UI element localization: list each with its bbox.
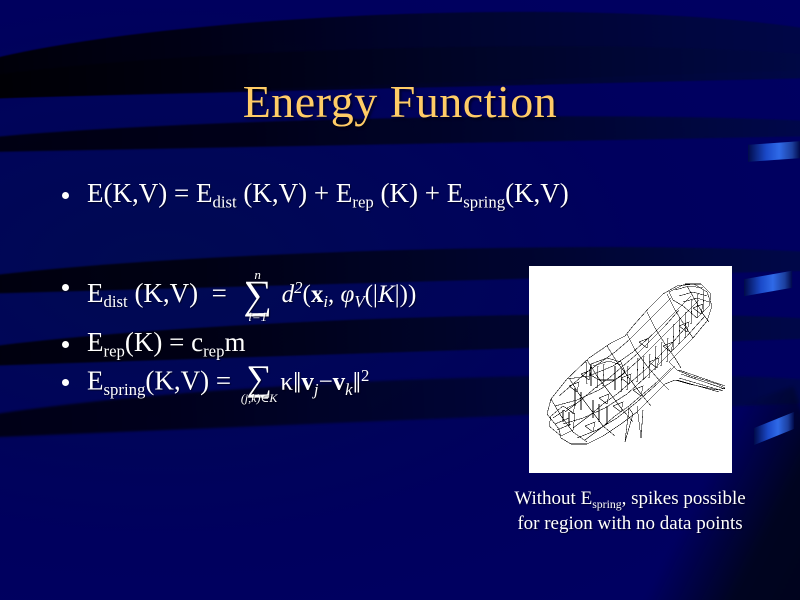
- eq-lhs: E(K,V): [87, 178, 167, 208]
- wireframe-mesh-svg: [529, 266, 732, 473]
- summation-operator: n ∑ i=1: [243, 268, 272, 323]
- eq-term2-base: E: [336, 178, 353, 208]
- eq-term3-sub: spring: [463, 192, 505, 211]
- math-c-subscript: rep: [203, 341, 224, 360]
- eq-lhs-args: (K): [125, 327, 162, 357]
- bullet-dot-icon: [62, 341, 69, 348]
- math-minus: −: [319, 368, 333, 395]
- summation-lower-limit: (j,k)∈K: [241, 392, 278, 404]
- eq-plus2: +: [425, 178, 440, 208]
- caption-line1-pre: Without E: [514, 488, 592, 509]
- bullet-dot-icon: [62, 192, 69, 199]
- math-norm-exponent: 2: [361, 366, 369, 385]
- eq-lhs-base: E: [87, 327, 104, 357]
- eq-equals: =: [212, 278, 227, 308]
- eq-equals: =: [174, 178, 189, 208]
- caption-line2: for region with no data points: [517, 513, 742, 534]
- math-c: c: [191, 327, 203, 357]
- summation-lower-limit: i=1: [248, 310, 267, 323]
- bullet-dot-icon: [62, 284, 69, 291]
- eq-term1-base: E: [196, 178, 213, 208]
- math-v-k-subscript: k: [345, 380, 352, 399]
- sigma-icon: ∑: [246, 363, 272, 394]
- figure-caption: Without Espring, spikes possible for reg…: [470, 486, 790, 536]
- eq-lhs-args: (K,V): [128, 278, 198, 308]
- math-phi: φ: [341, 281, 355, 308]
- math-abs-open: (|: [365, 281, 378, 308]
- bullet-dot-icon: [62, 379, 69, 386]
- math-norm-close: ‖: [353, 366, 361, 399]
- math-m: m: [224, 327, 245, 357]
- caption-line1-post: , spikes possible: [622, 488, 746, 509]
- math-kappa: κ: [280, 368, 293, 395]
- eq-lhs-base: E: [87, 278, 104, 308]
- wireframe-mesh-figure: [529, 266, 732, 473]
- eq-term3-args: (K,V): [505, 178, 569, 208]
- summation-operator: ∑ (j,k)∈K: [241, 363, 278, 404]
- eq-term1-args: (K,V): [237, 178, 307, 208]
- math-K: K: [378, 281, 395, 308]
- presentation-slide: Energy Function E(K,V) = Edist (K,V) + E…: [0, 0, 800, 600]
- bullet-total-energy: E(K,V) = Edist (K,V) + Erep (K) + Esprin…: [58, 176, 758, 212]
- eq-term1-sub: dist: [212, 192, 236, 211]
- bullet-total-energy-text: E(K,V) = Edist (K,V) + Erep (K) + Esprin…: [87, 176, 569, 212]
- slide-title: Energy Function: [0, 78, 800, 126]
- eq-lhs-base: E: [87, 365, 104, 395]
- background-blue-streak: [748, 141, 800, 162]
- math-paren-open: (: [303, 281, 311, 308]
- bullet-spring-energy-text: Espring(K,V) = ∑ (j,k)∈K κ‖vj−vk‖2: [87, 363, 369, 404]
- eq-term2-args: (K): [374, 178, 418, 208]
- math-d: d: [282, 281, 295, 308]
- eq-lhs-sub: rep: [104, 341, 125, 360]
- eq-term2-sub: rep: [352, 192, 373, 211]
- math-v-k-vector: v: [333, 368, 346, 395]
- eq-equals: =: [169, 327, 184, 357]
- eq-equals: =: [216, 365, 231, 395]
- eq-lhs-sub: spring: [104, 380, 146, 399]
- caption-line1-subscript: spring: [592, 498, 621, 511]
- sigma-icon: ∑: [243, 278, 272, 312]
- bullet-repulsion-energy-text: Erep(K) = crepm: [87, 325, 245, 361]
- math-x-vector: x: [311, 281, 324, 308]
- math-comma: ,: [328, 281, 341, 308]
- eq-lhs-args: (K,V): [145, 365, 209, 395]
- math-phi-subscript: V: [354, 292, 364, 311]
- eq-term3-base: E: [447, 178, 464, 208]
- math-d-exponent: 2: [294, 278, 302, 297]
- math-v-j-vector: v: [301, 368, 314, 395]
- eq-lhs-sub: dist: [104, 292, 128, 311]
- bullet-distance-energy-text: Edist (K,V) = n ∑ i=1 d2(xi, φV(|K|)): [87, 268, 416, 323]
- eq-plus1: +: [314, 178, 329, 208]
- math-abs-close: |)): [395, 281, 417, 308]
